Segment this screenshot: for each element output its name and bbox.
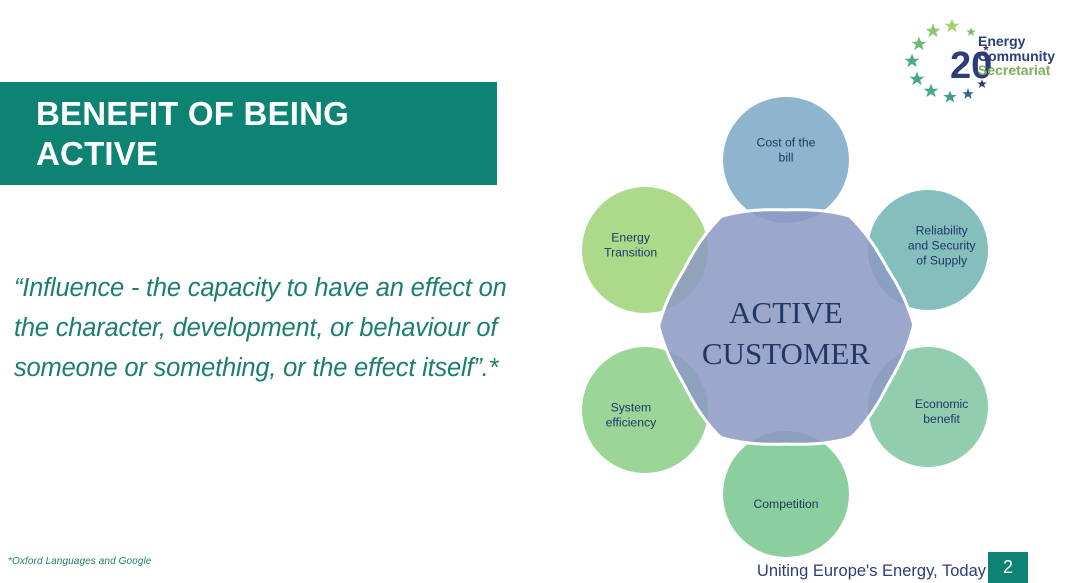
petal-label-energy-transition: EnergyTransition — [604, 231, 657, 260]
petal-label-system-efficiency: Systemefficiency — [606, 401, 657, 430]
petal-circle-competition[interactable] — [723, 431, 849, 557]
slide-title-banner: BENEFIT OF BEING ACTIVE — [0, 82, 497, 185]
logo-wordmark: Energy Community Secretariat — [978, 34, 1055, 78]
logo-line-secretariat: Secretariat — [978, 63, 1055, 78]
logo-line-community: Community — [978, 49, 1055, 64]
footnote-source: *Oxford Languages and Google — [8, 556, 151, 567]
page-title: BENEFIT OF BEING ACTIVE — [0, 94, 361, 174]
footer-tagline: Uniting Europe's Energy, Today — [757, 562, 986, 581]
petal-label-reliability-and-security: Reliabilityand Securityof Supply — [908, 223, 977, 267]
logo-line-energy: Energy — [978, 34, 1055, 49]
active-customer-diagram: Cost of thebillReliabilityand Securityof… — [548, 92, 1028, 562]
quote-text: “Influence - the capacity to have an eff… — [14, 268, 514, 388]
petal-label-competition: Competition — [753, 497, 818, 511]
